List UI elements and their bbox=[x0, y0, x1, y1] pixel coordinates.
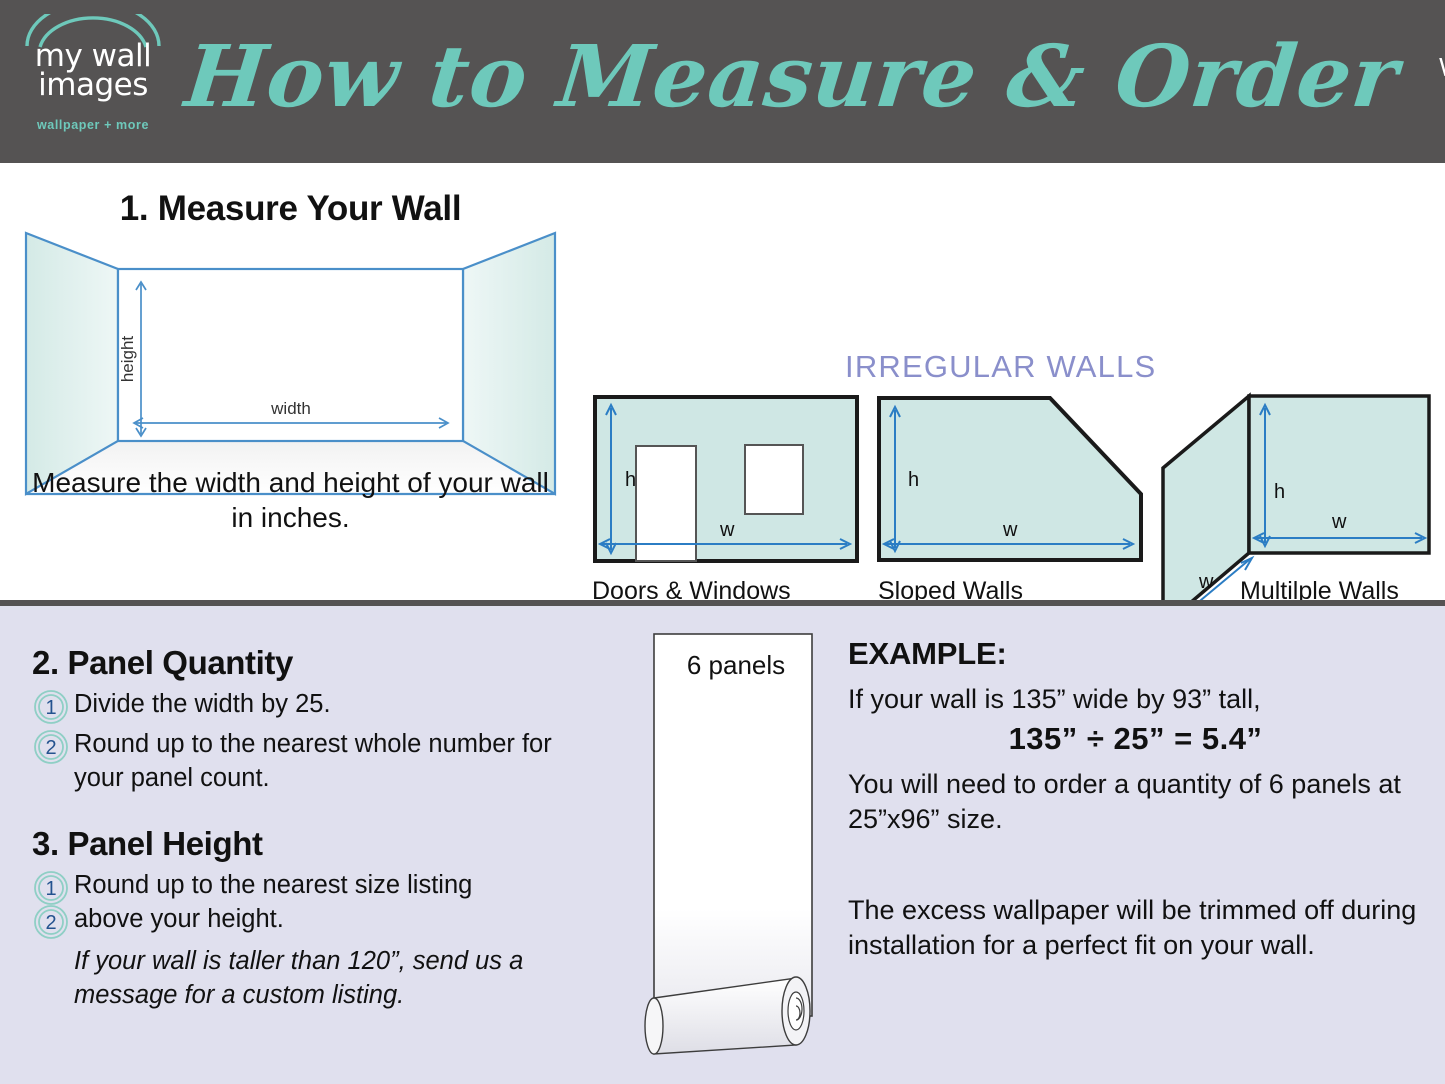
logo-wordmark: my wall images bbox=[8, 42, 178, 99]
step3-marker-1: 1 bbox=[32, 869, 74, 903]
step3-item-2-text: above your height. bbox=[74, 903, 284, 937]
step-marker-number: 1 bbox=[45, 697, 56, 719]
example-heading: EXAMPLE: bbox=[848, 636, 1423, 672]
header-bar: my wall images wallpaper + more How to M… bbox=[0, 0, 1445, 163]
logo-tagline: wallpaper + more bbox=[0, 118, 186, 132]
infographic-page: my wall images wallpaper + more How to M… bbox=[0, 0, 1445, 1084]
step2-item-1: 1 Divide the width by 25. bbox=[32, 688, 592, 722]
step2-item-2: 2 Round up to the nearest whole number f… bbox=[32, 728, 592, 795]
step3-note: If your wall is taller than 120”, send u… bbox=[74, 945, 592, 1012]
help-text: We’re here to help. Just send us a messa… bbox=[1418, 54, 1445, 141]
step2-item-2-text: Round up to the nearest whole number for… bbox=[74, 728, 592, 795]
measure-section: height width 1. Measure Your Wall Measur… bbox=[0, 163, 1445, 603]
measure-heading: 1. Measure Your Wall bbox=[18, 189, 563, 229]
roll-panel-count-label: 6 panels bbox=[636, 650, 836, 681]
example-equation: 135” ÷ 25” = 5.4” bbox=[848, 721, 1423, 757]
example-column: EXAMPLE: If your wall is 135” wide by 93… bbox=[848, 636, 1423, 963]
step3-item-1: 1 Round up to the nearest size listing bbox=[32, 869, 592, 903]
multi-h-label: h bbox=[1274, 481, 1285, 503]
multi-w-label: w bbox=[1331, 511, 1347, 533]
example-line-2: You will need to order a quantity of 6 p… bbox=[848, 767, 1423, 837]
help-block: QUESTIONS? We’re here to help. Just send… bbox=[1418, 22, 1445, 140]
dw-h-label: h bbox=[625, 469, 636, 491]
sloped-w-label: w bbox=[1002, 519, 1018, 541]
steps-column: 2. Panel Quantity 1 Divide the width by … bbox=[32, 644, 592, 1013]
step3-item-2: 2 above your height. bbox=[32, 903, 592, 937]
step-marker-number: 1 bbox=[45, 878, 56, 900]
room-width-label: width bbox=[270, 399, 311, 418]
step2-heading: 2. Panel Quantity bbox=[32, 644, 592, 682]
step-marker-number: 2 bbox=[45, 912, 56, 934]
step3-item-1-text: Round up to the nearest size listing bbox=[74, 869, 472, 903]
room-height-label: height bbox=[118, 336, 137, 383]
brand-logo: my wall images wallpaper + more bbox=[0, 0, 186, 163]
sloped-h-label: h bbox=[908, 469, 919, 491]
step3-heading: 3. Panel Height bbox=[32, 825, 592, 863]
sloped-walls-diagram: h w bbox=[875, 394, 1145, 564]
dw-w-label: w bbox=[719, 519, 735, 541]
example-line-1: If your wall is 135” wide by 93” tall, bbox=[848, 682, 1423, 717]
doors-windows-diagram: h w bbox=[592, 394, 860, 564]
step-marker-2: 2 bbox=[32, 728, 74, 762]
logo-line-2: images bbox=[8, 71, 178, 100]
step-marker-1: 1 bbox=[32, 688, 74, 722]
example-line-3: The excess wallpaper will be trimmed off… bbox=[848, 893, 1423, 963]
step3-marker-2: 2 bbox=[32, 903, 74, 937]
multi-w2-label: w bbox=[1198, 571, 1214, 593]
panel-section: 2. Panel Quantity 1 Divide the width by … bbox=[0, 606, 1445, 1084]
step2-item-1-text: Divide the width by 25. bbox=[74, 688, 331, 722]
step-marker-number: 2 bbox=[45, 737, 56, 759]
wallpaper-roll-illustration bbox=[636, 630, 851, 1060]
measure-caption: Measure the width and height of your wal… bbox=[18, 465, 563, 536]
page-title: How to Measure & Order bbox=[182, 35, 1423, 120]
